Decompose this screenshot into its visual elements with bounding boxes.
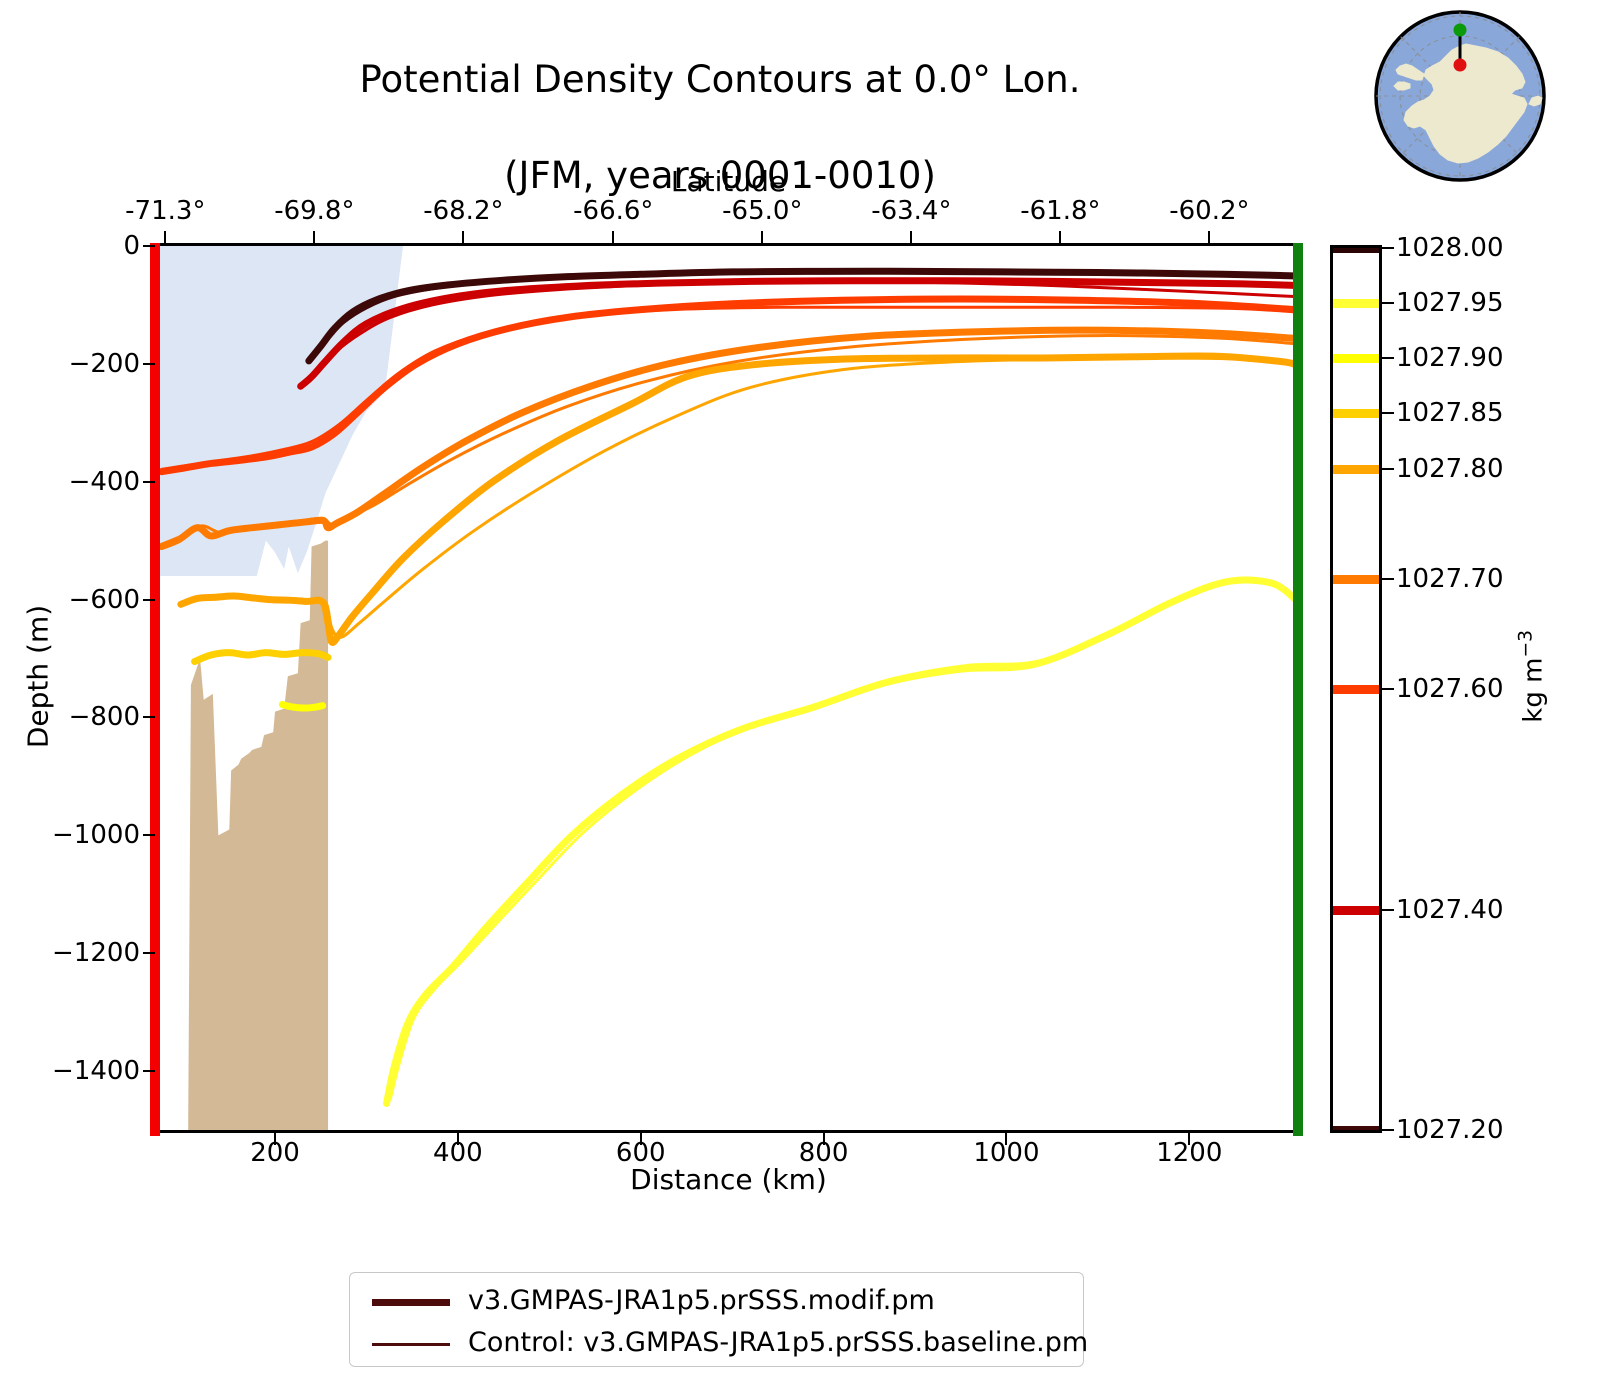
colorbar-tick-label: 1027.95	[1396, 288, 1504, 318]
axis-tick-mark	[1381, 578, 1394, 580]
latitude-tick-label: -60.2°	[1169, 196, 1249, 226]
latitude-tick-label: -63.4°	[871, 196, 951, 226]
axis-tick-mark	[1381, 1129, 1394, 1131]
colorbar-axis-title: kg m−3	[1516, 576, 1549, 776]
legend-entry-modif[interactable]: v3.GMPAS-JRA1p5.prSSS.modif.pm	[350, 1279, 1083, 1323]
axis-tick-mark	[1381, 909, 1394, 911]
transect-end-marker-line	[1293, 243, 1303, 1136]
axis-tick-mark	[143, 481, 155, 483]
axis-tick-mark	[1381, 357, 1394, 359]
axis-tick-mark	[910, 231, 912, 243]
density-colorbar[interactable]	[1330, 245, 1382, 1133]
antarctica-location-inset-map	[1372, 8, 1548, 184]
colorbar-level-band	[1333, 299, 1379, 308]
axis-tick-mark	[1381, 468, 1394, 470]
colorbar-tick-label: 1028.00	[1396, 233, 1504, 263]
colorbar-tick-label: 1027.80	[1396, 454, 1504, 484]
colorbar-unit-exponent: −3	[1516, 630, 1537, 658]
axis-tick-mark	[164, 231, 166, 243]
axis-tick-mark	[462, 231, 464, 243]
colorbar-tick-label: 1027.20	[1396, 1115, 1504, 1145]
axis-tick-mark	[823, 1133, 825, 1145]
axis-tick-mark	[1208, 231, 1210, 243]
axis-tick-mark	[143, 716, 155, 718]
legend-label-modif: v3.GMPAS-JRA1p5.prSSS.modif.pm	[468, 1285, 935, 1316]
axis-tick-mark	[612, 231, 614, 243]
axis-tick-mark	[274, 1133, 276, 1145]
axis-tick-mark	[143, 599, 155, 601]
colorbar-level-band	[1333, 354, 1379, 363]
axis-tick-mark	[1059, 231, 1061, 243]
latitude-axis-title: Latitude	[155, 165, 1302, 198]
axis-tick-mark	[457, 1133, 459, 1145]
contour-line-1027-95	[390, 578, 1297, 1099]
contour-plot-canvas	[158, 246, 1299, 1130]
legend-swatch-control	[372, 1343, 450, 1346]
inset-end-dot	[1454, 24, 1467, 37]
depth-tick-label: −600	[69, 585, 140, 615]
contour-line-1027-95	[387, 580, 1298, 1103]
legend-label-control: Control: v3.GMPAS-JRA1p5.prSSS.baseline.…	[468, 1327, 1088, 1358]
depth-tick-label: 0	[123, 231, 140, 261]
colorbar-unit-base: kg m	[1518, 658, 1548, 723]
axis-tick-mark	[143, 834, 155, 836]
latitude-tick-label: -66.6°	[573, 196, 653, 226]
latitude-tick-label: -61.8°	[1020, 196, 1100, 226]
axis-tick-mark	[761, 231, 763, 243]
latitude-tick-label: -68.2°	[423, 196, 503, 226]
latitude-tick-label: -71.3°	[125, 196, 205, 226]
depth-tick-label: −800	[69, 702, 140, 732]
axis-tick-mark	[143, 1070, 155, 1072]
colorbar-tick-label: 1027.85	[1396, 398, 1504, 428]
axis-tick-mark	[1381, 302, 1394, 304]
axis-tick-mark	[1005, 1133, 1007, 1145]
colorbar-tick-label: 1027.90	[1396, 343, 1504, 373]
axis-tick-mark	[1381, 688, 1394, 690]
colorbar-level-band	[1333, 245, 1379, 253]
axis-tick-mark	[143, 245, 155, 247]
distance-axis-title: Distance (km)	[155, 1163, 1302, 1196]
legend-entry-control[interactable]: Control: v3.GMPAS-JRA1p5.prSSS.baseline.…	[350, 1321, 1083, 1365]
axis-tick-mark	[1188, 1133, 1190, 1145]
inset-start-dot	[1454, 59, 1467, 72]
latitude-tick-label: -69.8°	[274, 196, 354, 226]
axis-tick-mark	[1381, 247, 1394, 249]
depth-tick-label: −200	[69, 349, 140, 379]
depth-tick-label: −1400	[52, 1056, 140, 1086]
depth-tick-label: −400	[69, 467, 140, 497]
depth-tick-label: −1000	[52, 820, 140, 850]
colorbar-level-band	[1333, 465, 1379, 474]
axis-tick-mark	[313, 231, 315, 243]
transect-start-marker-line	[150, 243, 160, 1136]
axis-tick-mark	[143, 363, 155, 365]
axis-tick-mark	[143, 952, 155, 954]
axis-tick-mark	[640, 1133, 642, 1145]
contour-line-1027-9	[282, 705, 322, 709]
depth-axis-title: Depth (m)	[22, 557, 55, 797]
colorbar-level-band	[1333, 906, 1379, 915]
contour-plot-area[interactable]	[155, 243, 1302, 1133]
legend: v3.GMPAS-JRA1p5.prSSS.modif.pm Control: …	[349, 1272, 1084, 1367]
depth-tick-label: −1200	[52, 938, 140, 968]
colorbar-tick-label: 1027.60	[1396, 674, 1504, 704]
colorbar-tick-label: 1027.40	[1396, 895, 1504, 925]
colorbar-level-band	[1333, 409, 1379, 418]
latitude-tick-label: -65.0°	[722, 196, 802, 226]
colorbar-level-band	[1333, 1126, 1379, 1133]
legend-swatch-modif	[372, 1299, 450, 1306]
colorbar-level-band	[1333, 685, 1379, 694]
axis-tick-mark	[1381, 412, 1394, 414]
colorbar-tick-label: 1027.70	[1396, 564, 1504, 594]
colorbar-level-band	[1333, 575, 1379, 584]
bathymetry-fill	[158, 541, 328, 1130]
title-line-1: Potential Density Contours at 0.0° Lon.	[120, 56, 1320, 104]
